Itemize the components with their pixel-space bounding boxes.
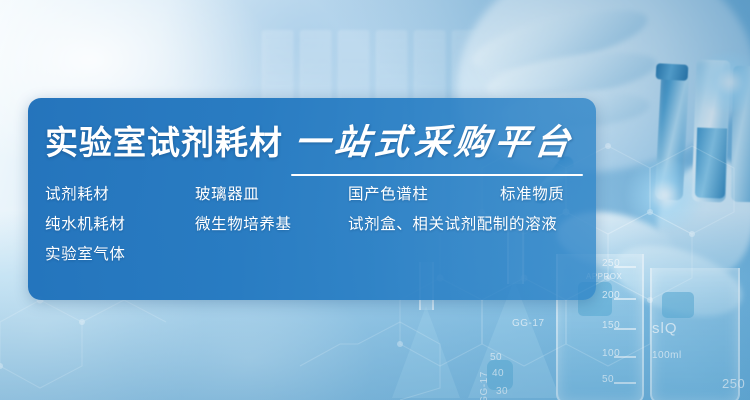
category-item-water-purifier-consumables[interactable]: 纯水机耗材 xyxy=(45,212,126,234)
category-list: 试剂耗材 玻璃器皿 国产色谱柱 标准物质 纯水机耗材 微生物培养基 试剂盒、相关… xyxy=(45,182,585,272)
page-title-brush: 一站式采购平台 xyxy=(292,114,578,165)
category-row: 试剂耗材 玻璃器皿 国产色谱柱 标准物质 xyxy=(45,182,585,212)
category-row: 纯水机耗材 微生物培养基 试剂盒、相关试剂配制的溶液 xyxy=(45,212,585,242)
category-item-reference-materials[interactable]: 标准物质 xyxy=(500,182,564,204)
category-item-microbial-culture-media[interactable]: 微生物培养基 xyxy=(195,212,292,234)
category-item-reagent-consumables[interactable]: 试剂耗材 xyxy=(45,182,109,204)
category-item-glassware[interactable]: 玻璃器皿 xyxy=(195,182,259,204)
category-item-domestic-chromatography-column[interactable]: 国产色谱柱 xyxy=(348,182,429,204)
banner-title: 实验室试剂耗材 一站式采购平台 xyxy=(45,114,575,176)
page-title-brush-wrap: 一站式采购平台 xyxy=(295,114,575,176)
content-panel: 实验室试剂耗材 一站式采购平台 试剂耗材 玻璃器皿 国产色谱柱 标准物质 纯水机… xyxy=(28,98,596,300)
category-item-laboratory-gases[interactable]: 实验室气体 xyxy=(45,242,126,264)
category-item-reagent-kits-solutions[interactable]: 试剂盒、相关试剂配制的溶液 xyxy=(348,212,557,234)
title-underline xyxy=(291,174,583,176)
category-row: 实验室气体 xyxy=(45,242,585,272)
laboratory-reagent-banner: 250 APPROX 200 150 100 50 GG-17 GG-17 10… xyxy=(0,0,750,400)
page-title-main: 实验室试剂耗材 xyxy=(45,116,283,164)
